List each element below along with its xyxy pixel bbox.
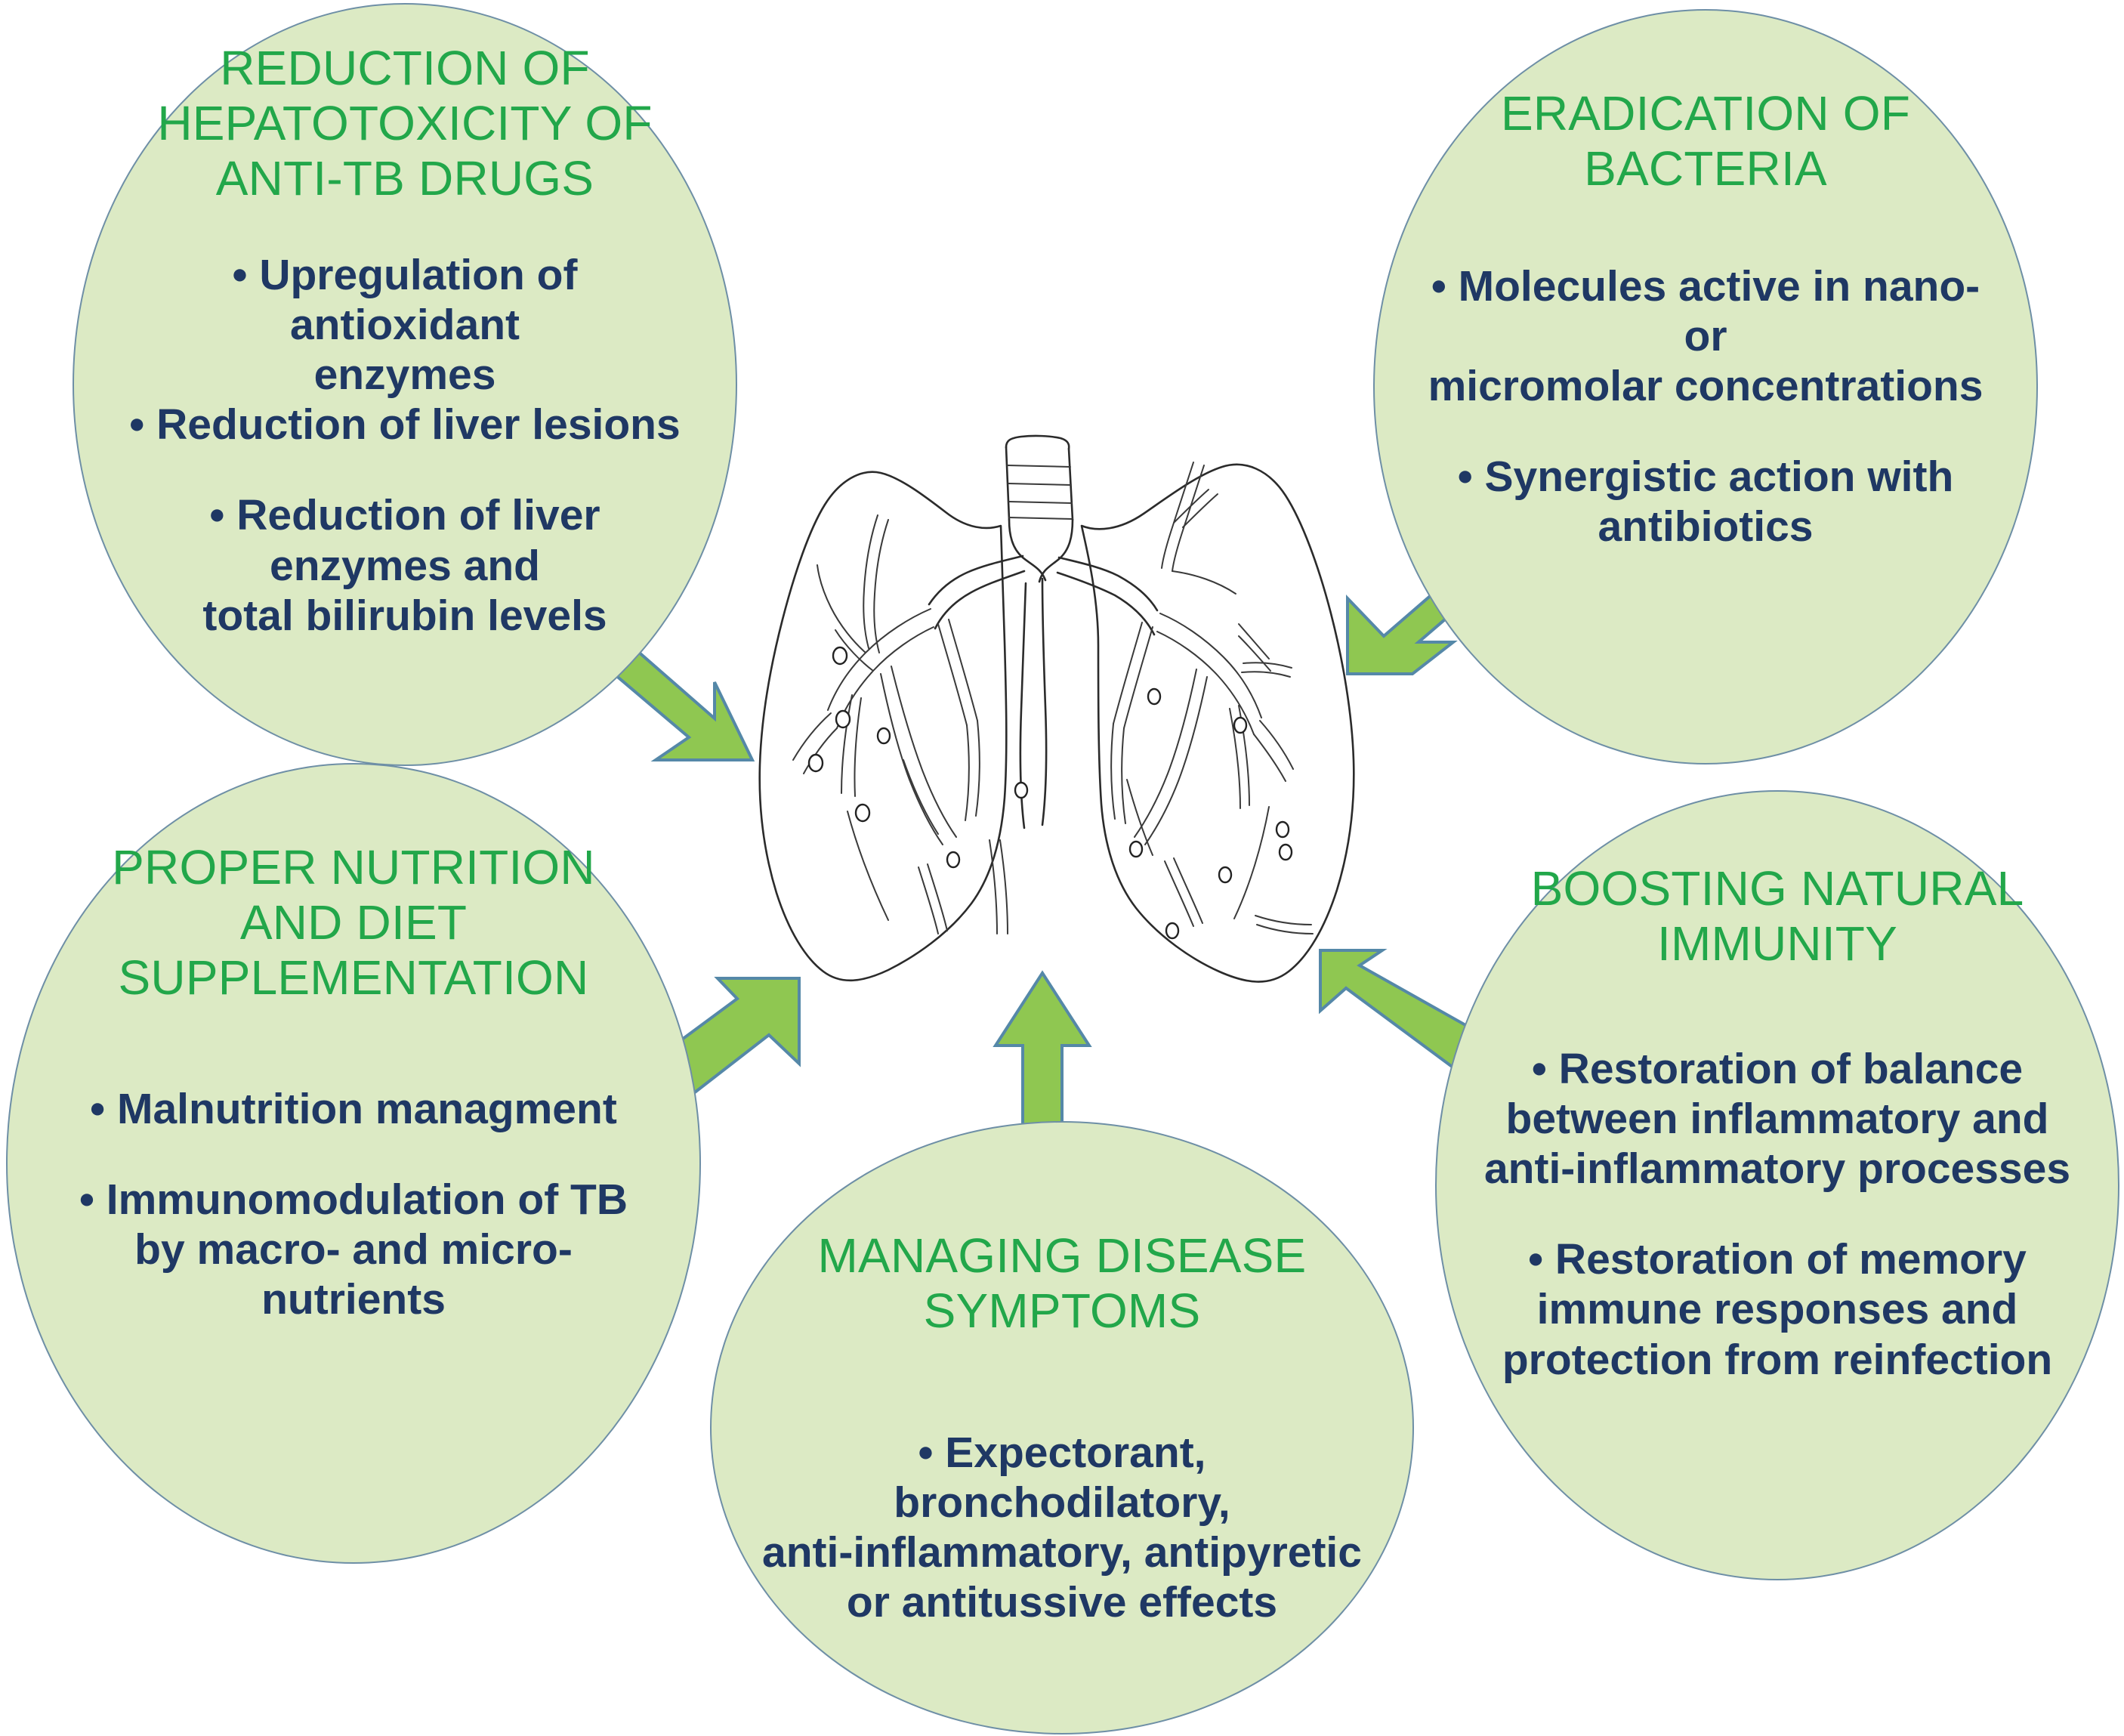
- bubble-body-nutrition: • Malnutrition managment • Immunomodulat…: [56, 1084, 651, 1325]
- bullet-item: • Expectorant, bronchodilatory, anti-inf…: [758, 1428, 1366, 1627]
- bullet-item: • Malnutrition managment: [56, 1084, 651, 1134]
- bubble-title-nutrition: PROPER NUTRITION AND DIET SUPPLEMENTATIO…: [112, 840, 595, 1005]
- bullet-item: • Immunomodulation of TB by macro- and m…: [56, 1175, 651, 1324]
- bubble-eradication-of-bacteria[interactable]: ERADICATION OF BACTERIA • Molecules acti…: [1373, 9, 2038, 765]
- bubble-managing-disease-symptoms[interactable]: MANAGING DISEASE SYMPTOMS • Expectorant,…: [710, 1121, 1414, 1734]
- bullet-item: • Restoration of balance between inflamm…: [1479, 1044, 2076, 1194]
- bullet-item: • Reduction of liver enzymes and total b…: [118, 490, 692, 640]
- bubble-body-symptoms: • Expectorant, bronchodilatory, anti-inf…: [758, 1428, 1366, 1627]
- bubble-body-eradication: • Molecules active in nano- or micromola…: [1428, 261, 1984, 552]
- bubble-title-eradication: ERADICATION OF BACTERIA: [1501, 86, 1910, 196]
- diagram-canvas: REDUCTION OF HEPATOTOXICITY OF ANTI-TB D…: [0, 0, 2124, 1736]
- bubble-reduction-of-hepatotoxicity[interactable]: REDUCTION OF HEPATOTOXICITY OF ANTI-TB D…: [73, 3, 737, 766]
- bubble-title-immunity: BOOSTING NATURAL IMMUNITY: [1531, 861, 2024, 971]
- bullet-item: • Molecules active in nano- or micromola…: [1428, 261, 1984, 411]
- bubble-body-immunity: • Restoration of balance between inflamm…: [1479, 1044, 2076, 1385]
- bullet-item: • Upregulation of antioxidant enzymes • …: [118, 250, 692, 449]
- bubble-proper-nutrition-and-diet-supplementation[interactable]: PROPER NUTRITION AND DIET SUPPLEMENTATIO…: [6, 763, 701, 1564]
- lungs-illustration: [740, 393, 1420, 997]
- bullet-item: • Synergistic action with antibiotics: [1428, 452, 1984, 551]
- bullet-item: • Restoration of memory immune responses…: [1479, 1234, 2076, 1384]
- bubble-boosting-natural-immunity[interactable]: BOOSTING NATURAL IMMUNITY • Restoration …: [1435, 790, 2119, 1580]
- bubble-title-hepatotoxicity: REDUCTION OF HEPATOTOXICITY OF ANTI-TB D…: [157, 41, 652, 206]
- bubble-title-symptoms: MANAGING DISEASE SYMPTOMS: [818, 1228, 1307, 1339]
- bubble-body-hepatotoxicity: • Upregulation of antioxidant enzymes • …: [118, 250, 692, 641]
